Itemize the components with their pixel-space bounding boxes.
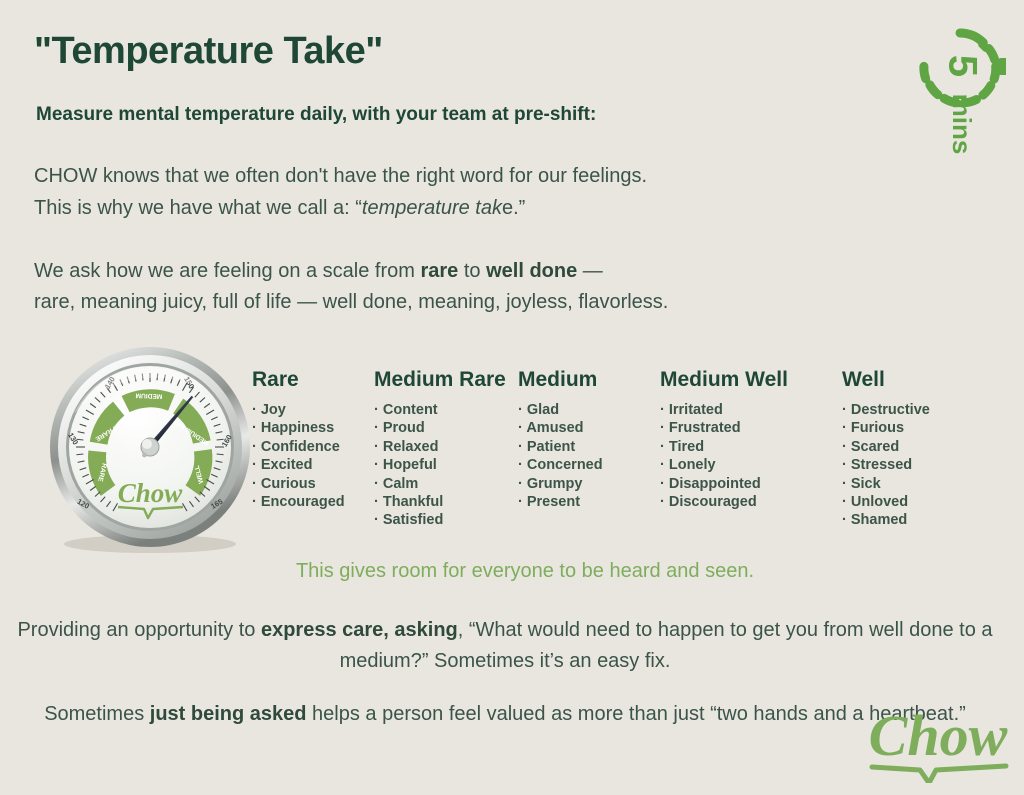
badge-unit: mins (947, 94, 977, 154)
column-list: Glad Amused Patient Concerned Grumpy Pre… (518, 401, 638, 511)
list-item: Relaxed (374, 438, 496, 456)
list-item: Disappointed (660, 475, 820, 493)
list-item: Joy (252, 401, 352, 419)
column-list: Irritated Frustrated Tired Lonely Disapp… (660, 401, 820, 511)
list-item: Content (374, 401, 496, 419)
column-list: Joy Happiness Confidence Excited Curious… (252, 401, 352, 511)
poster-canvas: 5 mins "Temperature Take" Measure mental… (0, 0, 1024, 795)
gauge-hub-screw (142, 453, 147, 458)
list-item: Destructive (842, 401, 952, 419)
badge-number: 5 (940, 55, 984, 77)
column-header: Well (842, 368, 952, 392)
list-item: Encouraged (252, 493, 352, 511)
list-item: Hopeful (374, 456, 496, 474)
list-item: Discouraged (660, 493, 820, 511)
callout-text: This gives room for everyone to be heard… (0, 560, 1024, 583)
list-item: Lonely (660, 456, 820, 474)
list-item: Excited (252, 456, 352, 474)
list-item: Thankful (374, 493, 496, 511)
scale-line-2: rare, meaning juicy, full of life — well… (34, 287, 668, 318)
bottom-paragraph-2: Sometimes just being asked helps a perso… (0, 699, 1010, 730)
intro-line-2-pre: This is why we have what we call a: “ (34, 197, 362, 219)
list-item: Confidence (252, 438, 352, 456)
column-medium: Medium Glad Amused Patient Concerned Gru… (518, 368, 638, 511)
scale-paragraph: We ask how we are feeling on a scale fro… (34, 256, 668, 318)
bottom-p2-a: Sometimes (44, 703, 150, 725)
scale-l1-a: We ask how we are feeling on a scale fro… (34, 260, 420, 282)
column-list: Content Proud Relaxed Hopeful Calm Thank… (374, 401, 496, 530)
scale-l1-e: — (577, 260, 603, 282)
chow-logo: Chow (864, 697, 1014, 783)
list-item: Happiness (252, 419, 352, 437)
list-item: Frustrated (660, 419, 820, 437)
column-rare: Rare Joy Happiness Confidence Excited Cu… (252, 368, 352, 511)
list-item: Tired (660, 438, 820, 456)
intro-line-2: This is why we have what we call a: “tem… (34, 192, 647, 224)
stopwatch-icon: 5 mins (914, 14, 1006, 154)
bottom-p1-emphasis: express care, asking (261, 619, 458, 641)
list-item: Satisfied (374, 511, 496, 529)
list-item: Proud (374, 419, 496, 437)
column-well: Well Destructive Furious Scared Stressed… (842, 368, 952, 530)
column-header: Medium (518, 368, 638, 392)
column-list: Destructive Furious Scared Stressed Sick… (842, 401, 952, 530)
list-item: Grumpy (518, 475, 638, 493)
bottom-p1-a: Providing an opportunity to (17, 619, 261, 641)
list-item: Curious (252, 475, 352, 493)
intro-paragraph: CHOW knows that we often don't have the … (34, 160, 647, 224)
bottom-p2-emphasis: just being asked (150, 703, 307, 725)
column-header: Rare (252, 368, 352, 392)
list-item: Amused (518, 419, 638, 437)
scale-term-well-done: well done (486, 260, 577, 282)
list-item: Stressed (842, 456, 952, 474)
list-item: Furious (842, 419, 952, 437)
gauge-hub-highlight (142, 439, 152, 449)
page-title: "Temperature Take" (34, 30, 383, 73)
list-item: Glad (518, 401, 638, 419)
feelings-columns: Rare Joy Happiness Confidence Excited Cu… (252, 368, 952, 530)
chow-logo-swoosh (872, 766, 1006, 783)
intro-line-2-post: e.” (502, 197, 525, 219)
list-item: Scared (842, 438, 952, 456)
list-item: Unloved (842, 493, 952, 511)
intro-line-1: CHOW knows that we often don't have the … (34, 160, 647, 192)
scale-term-rare: rare (420, 260, 458, 282)
temperature-gauge: RARE MEDIUM RARE MEDIUM MEDIUM WELL WELL (44, 344, 256, 556)
chow-logo-text: Chow (869, 703, 1008, 768)
gauge-brand-text: Chow (118, 478, 184, 508)
list-item: Irritated (660, 401, 820, 419)
list-item: Patient (518, 438, 638, 456)
list-item: Concerned (518, 456, 638, 474)
bottom-paragraph-1: Providing an opportunity to express care… (0, 615, 1010, 677)
column-header: Medium Well (660, 368, 820, 392)
page-subtitle: Measure mental temperature daily, with y… (36, 104, 596, 126)
list-item: Calm (374, 475, 496, 493)
intro-line-2-italic: temperature tak (362, 197, 502, 219)
list-item: Sick (842, 475, 952, 493)
list-item: Present (518, 493, 638, 511)
list-item: Shamed (842, 511, 952, 529)
scale-l1-c: to (458, 260, 486, 282)
column-medium-well: Medium Well Irritated Frustrated Tired L… (660, 368, 820, 511)
column-medium-rare: Medium Rare Content Proud Relaxed Hopefu… (374, 368, 496, 530)
five-mins-badge: 5 mins (914, 14, 1006, 154)
gauge-label-medium: MEDIUM (135, 392, 162, 400)
scale-line-1: We ask how we are feeling on a scale fro… (34, 256, 668, 287)
column-header: Medium Rare (374, 368, 496, 392)
